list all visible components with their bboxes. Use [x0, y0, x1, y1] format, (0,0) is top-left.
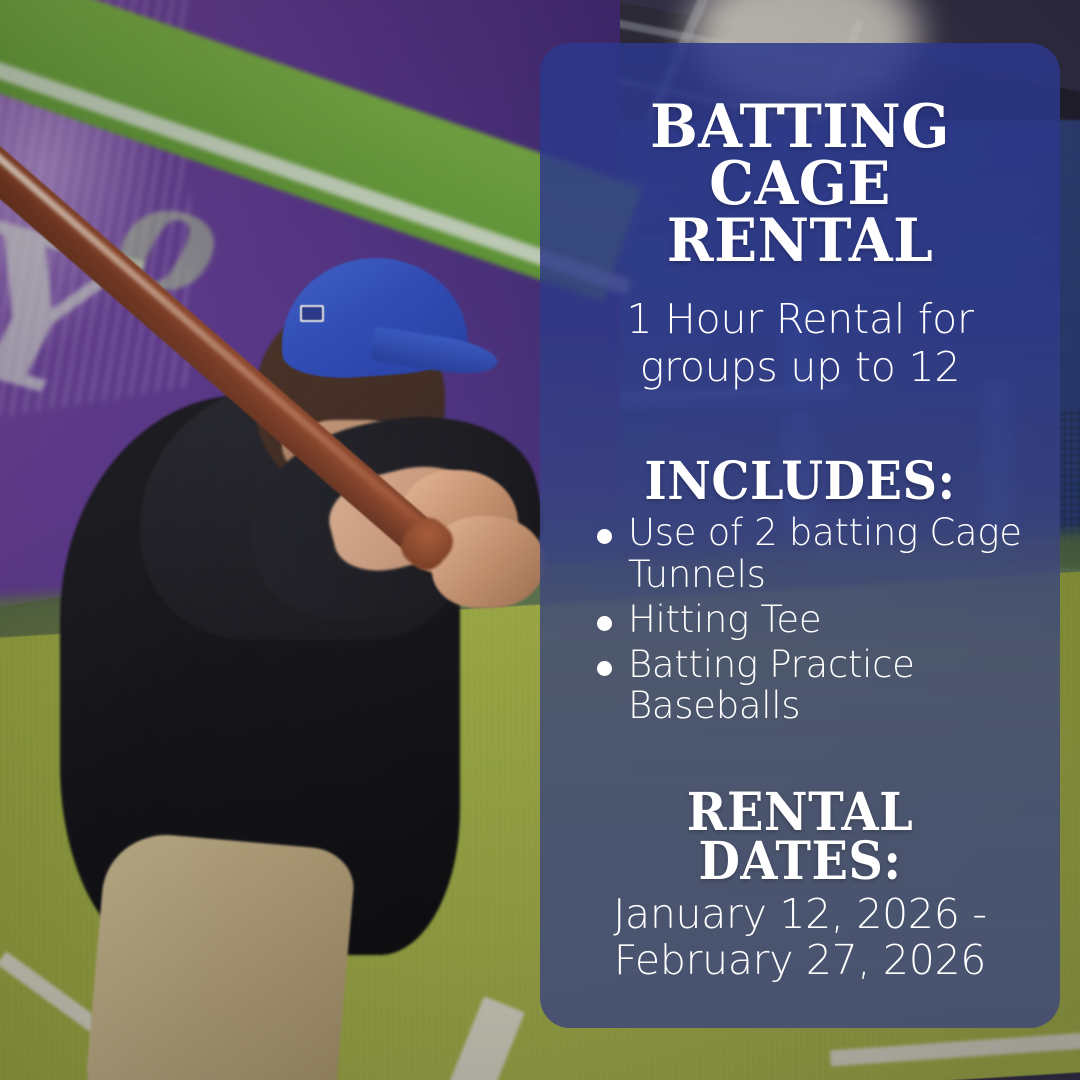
list-item: Hitting Tee: [628, 599, 1032, 640]
dates-value: January 12, 2026 - February 27, 2026: [562, 891, 1038, 984]
includes-heading: INCLUDES:: [581, 457, 1019, 506]
info-panel: BATTING CAGE RENTAL 1 Hour Rental for gr…: [540, 43, 1060, 1028]
player-pants: [83, 830, 356, 1080]
flyer-canvas: Y o e BATTING CAGE RENTAL 1 Hour Rental …: [0, 0, 1080, 1080]
includes-list: Use of 2 batting Cage Tunnels Hitting Te…: [562, 512, 1038, 725]
subtitle-text: 1 Hour Rental for groups up to 12: [562, 296, 1038, 391]
includes-section: INCLUDES: Use of 2 batting Cage Tunnels …: [562, 457, 1038, 730]
dates-heading: RENTAL DATES:: [581, 788, 1019, 887]
mlb-logo-patch: [300, 305, 324, 322]
dates-section: RENTAL DATES: January 12, 2026 - Februar…: [562, 788, 1038, 984]
list-item: Batting Practice Baseballs: [628, 644, 1032, 726]
list-item: Use of 2 batting Cage Tunnels: [628, 512, 1032, 594]
page-title: BATTING CAGE RENTAL: [576, 99, 1023, 270]
